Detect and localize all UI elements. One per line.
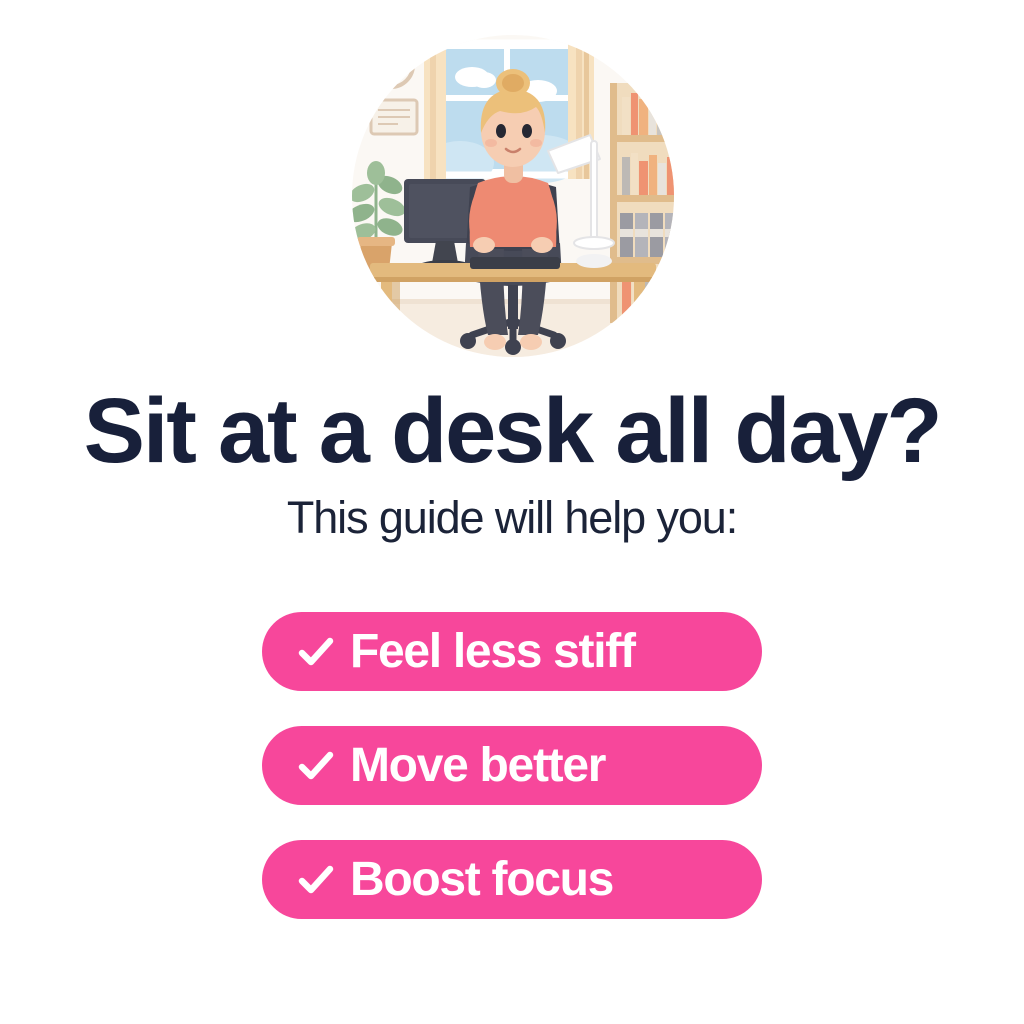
check-icon: [294, 858, 338, 902]
page-title: Sit at a desk all day?: [0, 385, 1024, 477]
check-icon: [294, 630, 338, 674]
desk-scene-illustration: [352, 35, 674, 357]
computer-mouse: [576, 254, 612, 268]
benefit-pill-move-better[interactable]: Move better: [262, 726, 762, 805]
keyboard: [470, 257, 560, 269]
benefit-pill-feel-less-stiff[interactable]: Feel less stiff: [262, 612, 762, 691]
benefit-pill-boost-focus[interactable]: Boost focus: [262, 840, 762, 919]
promo-poster: Sit at a desk all day? This guide will h…: [0, 0, 1024, 1024]
benefit-label: Move better: [350, 742, 605, 790]
benefit-list: Feel less stiff Move better Boost focus: [262, 612, 762, 919]
benefit-label: Boost focus: [350, 856, 613, 904]
check-icon: [294, 744, 338, 788]
desk-scene-svg: [352, 35, 674, 357]
page-subtitle: This guide will help you:: [0, 495, 1024, 540]
framed-picture: [371, 100, 417, 134]
wall-clock-icon: [369, 43, 413, 87]
benefit-label: Feel less stiff: [350, 628, 635, 676]
